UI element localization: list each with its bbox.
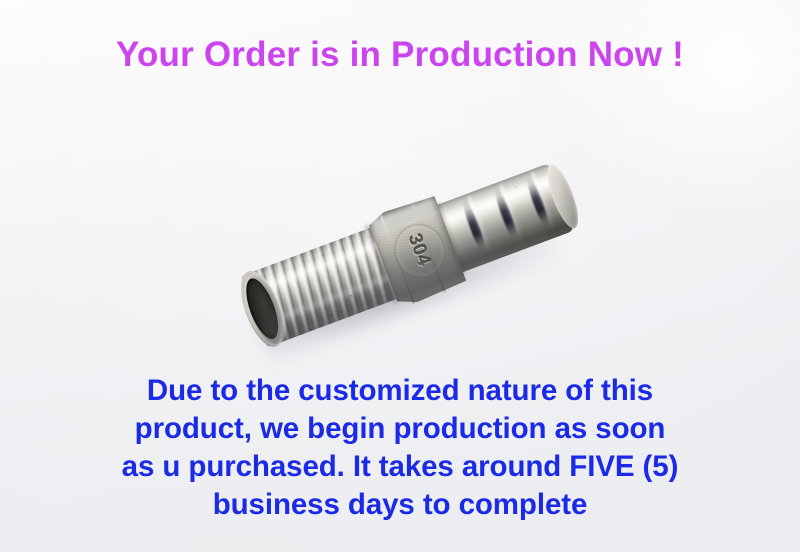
notice-line: product, we begin production as soon bbox=[0, 410, 800, 448]
product-image: 304 bbox=[236, 168, 582, 344]
notice-line: business days to complete bbox=[0, 486, 800, 524]
notice-line: Due to the customized nature of this bbox=[0, 372, 800, 410]
promo-image: Your Order is in Production Now ! bbox=[0, 0, 800, 552]
notice-line: as u purchased. It takes around FIVE (5) bbox=[0, 448, 800, 486]
production-notice: Due to the customized nature of this pro… bbox=[0, 372, 800, 524]
headline-text: Your Order is in Production Now ! bbox=[0, 36, 800, 75]
